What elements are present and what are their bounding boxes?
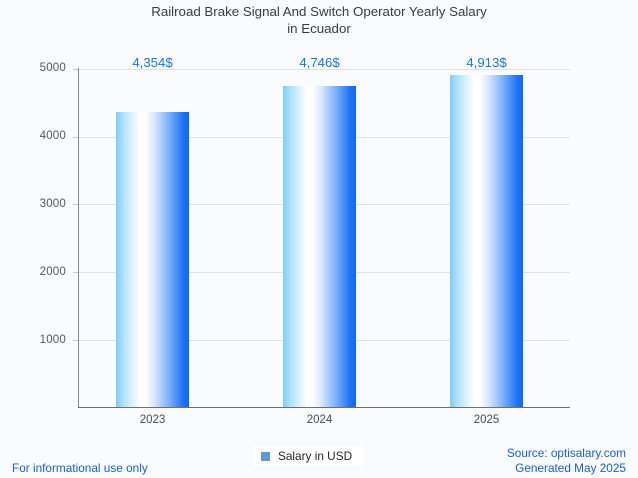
bar-2024[interactable] <box>283 86 356 407</box>
y-axis-line <box>78 68 79 408</box>
bar-2025[interactable] <box>450 75 523 407</box>
bar-value-label-2024: 4,746$ <box>283 55 356 70</box>
footer-generated-date: Generated May 2025 <box>507 461 626 476</box>
x-axis-label-2025: 2025 <box>450 414 523 426</box>
y-axis-tick-label-4000: 4000 <box>18 130 66 142</box>
bar-value-label-2025: 4,913$ <box>450 55 523 70</box>
y-axis-tick-label-5000: 5000 <box>18 62 66 74</box>
y-axis-tick-label-1000: 1000 <box>18 334 66 346</box>
legend-item-label-salary-in-usd: Salary in USD <box>278 449 352 463</box>
footer-source-block: Source: optisalary.com Generated May 202… <box>507 446 626 476</box>
y-axis-tick-label-3000: 3000 <box>18 198 66 210</box>
bar-value-label-2023: 4,354$ <box>116 55 189 70</box>
x-axis-line <box>78 407 570 408</box>
legend-swatch-icon <box>261 452 270 461</box>
footer-source[interactable]: Source: optisalary.com <box>507 446 626 461</box>
chart-legend[interactable]: Salary in USD <box>253 446 364 466</box>
x-axis-label-2024: 2024 <box>283 414 356 426</box>
chart-plot-area: 5000 4000 3000 2000 1000 4,354$ 4,746$ 4… <box>0 0 638 478</box>
x-axis-label-2023: 2023 <box>116 414 189 426</box>
footer-disclaimer: For informational use only <box>12 461 148 475</box>
y-axis-tick-label-2000: 2000 <box>18 266 66 278</box>
bar-2023[interactable] <box>116 112 189 407</box>
